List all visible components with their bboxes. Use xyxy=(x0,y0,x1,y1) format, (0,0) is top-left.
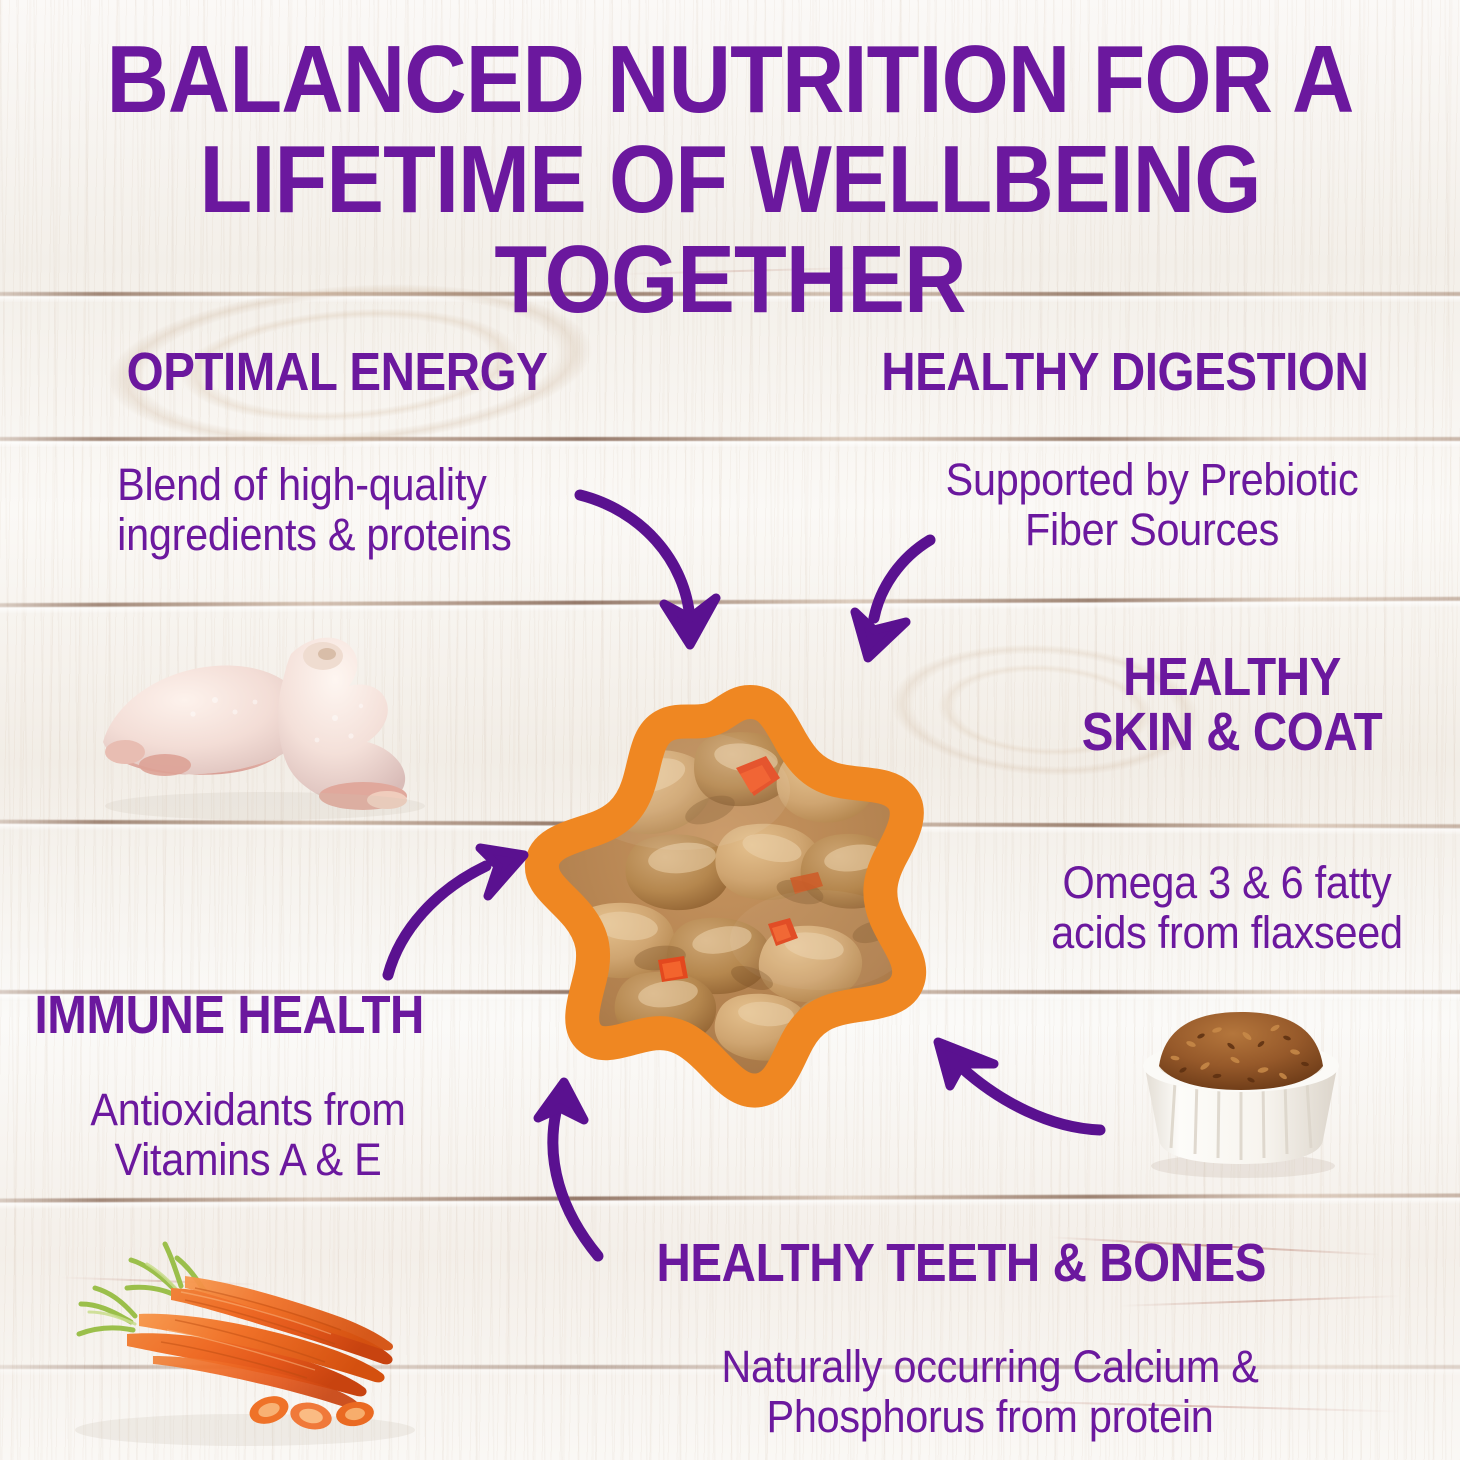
poster-title: BALANCED NUTRITION FOR A LIFETIME OF WEL… xyxy=(0,30,1460,329)
benefit-body-optimal-energy: Blend of high-quality ingredients & prot… xyxy=(100,460,529,561)
benefit-title-immune-health: IMMUNE HEALTH xyxy=(8,988,450,1043)
infographic-poster: BALANCED NUTRITION FOR A LIFETIME OF WEL… xyxy=(0,0,1460,1460)
benefit-title-healthy-skin-and-coat: HEALTHY SKIN & COAT xyxy=(1012,650,1452,760)
poster-title-line-1: BALANCED NUTRITION FOR A xyxy=(73,30,1387,130)
benefit-body-healthy-teeth-and-bones: Naturally occurring Calcium & Phosphorus… xyxy=(620,1342,1360,1443)
carrots-photo xyxy=(35,1230,425,1460)
benefit-title-healthy-digestion: HEALTHY DIGESTION xyxy=(848,345,1402,400)
flaxseed-bowl-photo xyxy=(1105,1000,1375,1180)
benefit-body-healthy-skin-and-coat: Omega 3 & 6 fatty acids from flaxseed xyxy=(1002,858,1452,959)
chicken-photo xyxy=(95,610,475,830)
benefit-title-healthy-teeth-and-bones: HEALTHY TEETH & BONES xyxy=(615,1236,1308,1291)
benefit-title-optimal-energy: OPTIMAL ENERGY xyxy=(98,345,576,400)
poster-title-line-2: LIFETIME OF WELLBEING TOGETHER xyxy=(73,130,1387,330)
benefit-body-healthy-digestion: Supported by Prebiotic Fiber Sources xyxy=(902,455,1402,556)
star-food-graphic xyxy=(500,640,1000,1140)
benefit-body-immune-health: Antioxidants from Vitamins A & E xyxy=(28,1085,468,1186)
